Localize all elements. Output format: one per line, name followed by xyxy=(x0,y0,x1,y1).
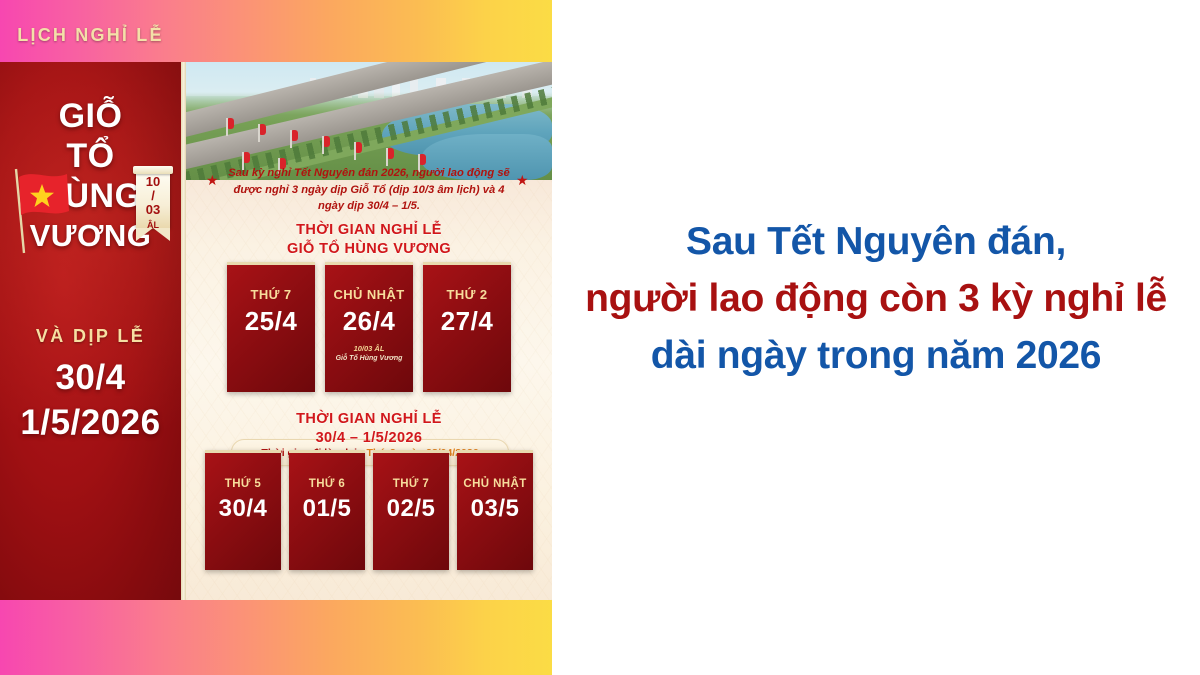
card-dow: CHỦ NHẬT xyxy=(333,287,404,302)
headline-line1: Sau Tết Nguyên đán, xyxy=(566,213,1186,270)
card-dow: THỨ 6 xyxy=(309,478,345,490)
banner-eyebrow: LỊCH NGHỈ LỄ xyxy=(0,22,181,48)
card-dow: CHỦ NHẬT xyxy=(463,478,526,490)
section1-title-line1: THỜI GIAN NGHỈ LỄ xyxy=(186,221,552,240)
holiday-poster: LỊCH NGHỈ LỄ 10 / 03 ÂL xyxy=(0,0,552,675)
section1-title-line2: GIỖ TỔ HÙNG VƯƠNG xyxy=(186,240,552,259)
banner-date-line2: 1/5/2026 xyxy=(0,400,181,445)
bottom-gradient-bar xyxy=(0,600,552,675)
lunar-day: 10 xyxy=(146,174,160,189)
lunar-calendar-label: ÂL xyxy=(133,218,173,232)
date-card: CHỦ NHẬT 26/4 10/03 ÂL Giỗ Tổ Hùng Vương xyxy=(325,262,413,392)
section2-title: THỜI GIAN NGHỈ LỄ 30/4 – 1/5/2026 xyxy=(186,410,552,448)
banner-title-line1: GIỖ xyxy=(0,96,181,136)
left-banner-content: LỊCH NGHỈ LỄ 10 / 03 ÂL xyxy=(0,0,181,538)
card-date: 02/5 xyxy=(387,495,436,523)
headline-line2: người lao động còn 3 kỳ nghỉ lễ xyxy=(566,270,1186,327)
date-card: THỨ 5 30/4 xyxy=(205,450,281,570)
card-dow: THỨ 7 xyxy=(393,478,429,490)
section2-date-cards: THỨ 5 30/4 THỨ 6 01/5 THỨ 7 02/5 CHỦ NHẬ… xyxy=(186,450,552,570)
infographic-column: ★ ★ Sau kỳ nghỉ Tết Nguyên đán 2026, ngư… xyxy=(186,62,552,600)
section2-title-line2: 30/4 – 1/5/2026 xyxy=(186,429,552,448)
banner-subhead: VÀ DỊP LỄ xyxy=(0,326,181,347)
intro-paragraph: Sau kỳ nghỉ Tết Nguyên đán 2026, người l… xyxy=(220,165,518,215)
card-lunar: 10/03 ÂL xyxy=(354,344,385,353)
date-card: THỨ 2 27/4 xyxy=(423,262,511,392)
lunar-month: 03 xyxy=(146,202,160,217)
article-headline: Sau Tết Nguyên đán, người lao động còn 3… xyxy=(566,213,1186,384)
date-card: CHỦ NHẬT 03/5 xyxy=(457,450,533,570)
card-date: 01/5 xyxy=(303,495,352,523)
infographic-content: ★ ★ Sau kỳ nghỉ Tết Nguyên đán 2026, ngư… xyxy=(186,62,552,600)
card-date: 30/4 xyxy=(219,495,268,523)
headline-line3: dài ngày trong năm 2026 xyxy=(566,327,1186,384)
section1-date-cards: THỨ 7 25/4 CHỦ NHẬT 26/4 10/03 ÂL Giỗ Tổ… xyxy=(186,262,552,392)
date-card: THỨ 7 02/5 xyxy=(373,450,449,570)
card-dow: THỨ 7 xyxy=(251,287,292,302)
star-left-icon: ★ xyxy=(206,173,219,187)
card-date: 03/5 xyxy=(471,495,520,523)
date-card: THỨ 6 01/5 xyxy=(289,450,365,570)
banner-dates: 30/4 1/5/2026 xyxy=(0,355,181,445)
section2-title-line1: THỜI GIAN NGHỈ LỄ xyxy=(186,410,552,429)
banner-date-line1: 30/4 xyxy=(0,355,181,400)
poster-canvas: LỊCH NGHỈ LỄ 10 / 03 ÂL xyxy=(0,0,1200,675)
lunar-date-ribbon: 10 / 03 ÂL xyxy=(133,166,173,243)
card-dow: THỨ 2 xyxy=(447,287,488,302)
card-date: 25/4 xyxy=(245,306,298,337)
date-card: THỨ 7 25/4 xyxy=(227,262,315,392)
card-date: 27/4 xyxy=(441,306,494,337)
lunar-slash: / xyxy=(151,188,155,203)
card-dow: THỨ 5 xyxy=(225,478,261,490)
card-note: Giỗ Tổ Hùng Vương xyxy=(336,355,403,362)
card-date: 26/4 xyxy=(343,306,396,337)
vietnam-flag-icon xyxy=(10,165,74,257)
section1-title: THỜI GIAN NGHỈ LỄ GIỖ TỔ HÙNG VƯƠNG xyxy=(186,221,552,259)
